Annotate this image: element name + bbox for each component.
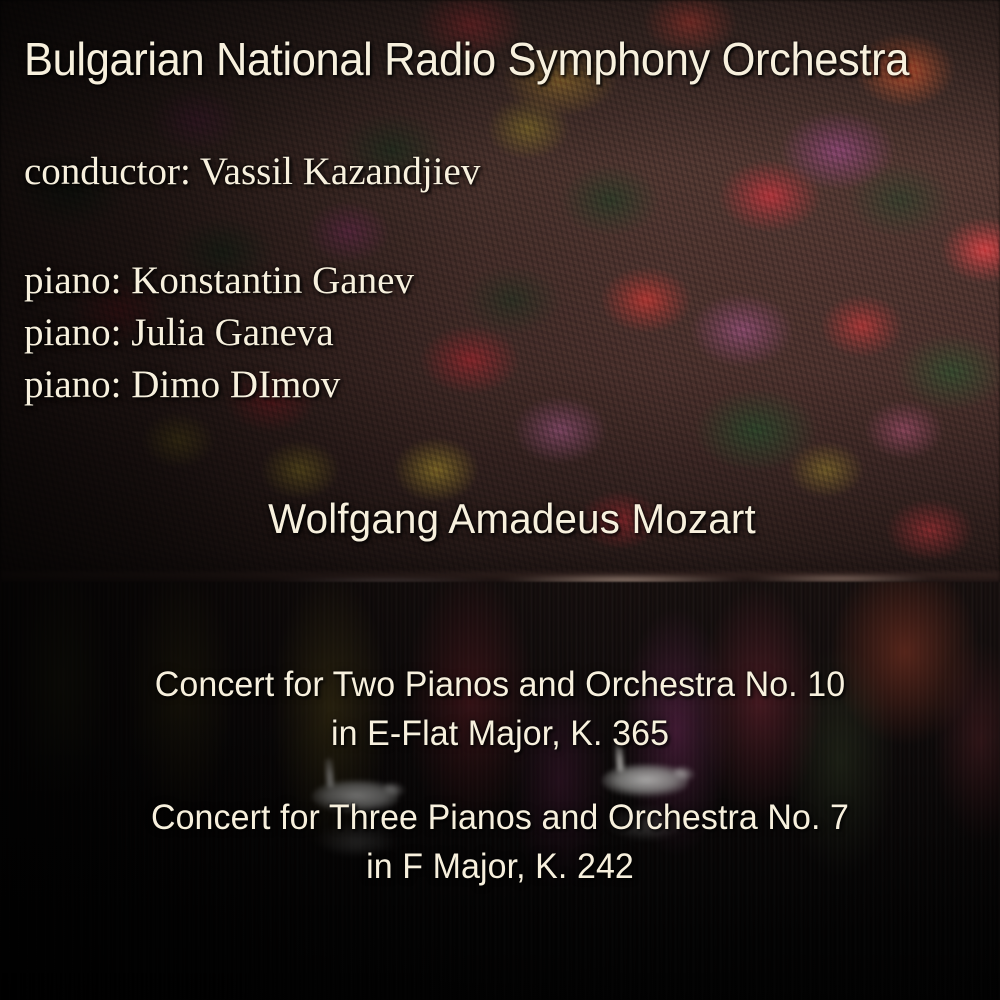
conductor-credit: conductor: Vassil Kazandjiev bbox=[24, 152, 480, 191]
work-listing-2: Concert for Three Pianos and Orchestra N… bbox=[15, 793, 985, 891]
album-cover: Bulgarian National Radio Symphony Orches… bbox=[0, 0, 1000, 1000]
performer-credit-1: piano: Konstantin Ganev bbox=[24, 255, 414, 307]
cover-text-layer: Bulgarian National Radio Symphony Orches… bbox=[0, 0, 1000, 1000]
work-title: Concert for Three Pianos and Orchestra N… bbox=[151, 798, 849, 837]
performer-credit-2: piano: Julia Ganeva bbox=[24, 307, 414, 359]
performer-credit-3: piano: Dimo DImov bbox=[24, 359, 414, 411]
composer-name: Wolfgang Amadeus Mozart bbox=[32, 498, 992, 540]
work-subtitle: in E-Flat Major, K. 365 bbox=[15, 709, 985, 758]
performer-credits: piano: Konstantin Ganev piano: Julia Gan… bbox=[24, 255, 414, 411]
work-subtitle: in F Major, K. 242 bbox=[15, 842, 985, 891]
work-title: Concert for Two Pianos and Orchestra No.… bbox=[155, 665, 845, 704]
work-listing-1: Concert for Two Pianos and Orchestra No.… bbox=[15, 660, 985, 758]
ensemble-title: Bulgarian National Radio Symphony Orches… bbox=[24, 36, 909, 82]
